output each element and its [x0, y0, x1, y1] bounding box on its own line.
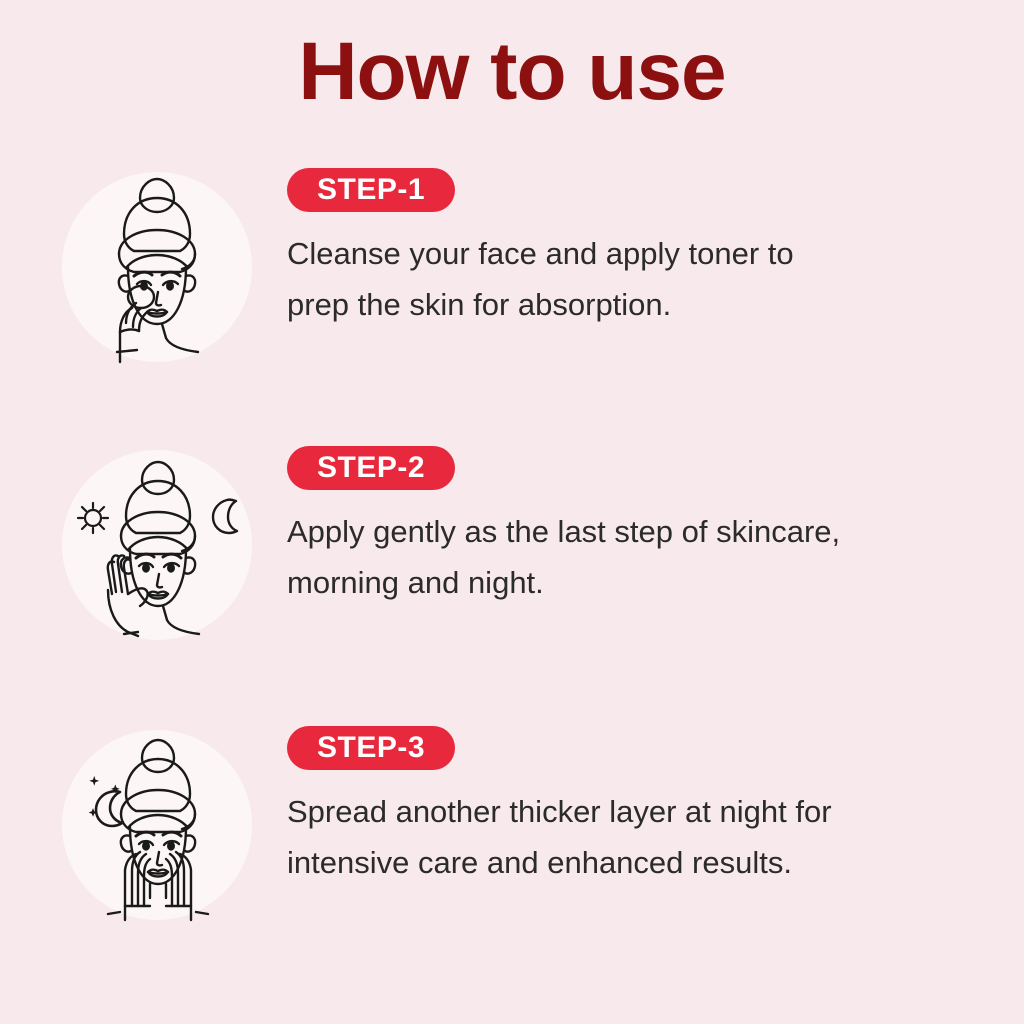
- step-3-illustration: [62, 730, 252, 920]
- step-3-line-1: Spread another thicker layer at night fo…: [287, 786, 967, 837]
- step-2-illustration: [62, 450, 252, 640]
- step-row: STEP-1 Cleanse your face and apply toner…: [0, 168, 1024, 368]
- step-1-description: Cleanse your face and apply toner to pre…: [287, 228, 967, 330]
- woman-cleansing-face-icon: [62, 172, 252, 362]
- page-title: How to use: [0, 24, 1024, 120]
- step-1-badge: STEP-1: [287, 168, 455, 212]
- step-1-illustration: [62, 172, 252, 362]
- step-3-line-2: intensive care and enhanced results.: [287, 837, 967, 888]
- step-3-badge: STEP-3: [287, 726, 455, 770]
- step-3-body: STEP-3 Spread another thicker layer at n…: [287, 726, 987, 888]
- step-1-body: STEP-1 Cleanse your face and apply toner…: [287, 168, 987, 330]
- step-2-line-2: morning and night.: [287, 557, 967, 608]
- step-2-badge: STEP-2: [287, 446, 455, 490]
- step-1-line-1: Cleanse your face and apply toner to: [287, 228, 967, 279]
- step-3-description: Spread another thicker layer at night fo…: [287, 786, 967, 888]
- step-1-line-2: prep the skin for absorption.: [287, 279, 967, 330]
- step-row: STEP-3 Spread another thicker layer at n…: [0, 726, 1024, 926]
- crescent-moon-icon: [62, 450, 252, 640]
- how-to-use-infographic: How to use: [0, 0, 1024, 1024]
- step-2-body: STEP-2 Apply gently as the last step of …: [287, 446, 987, 608]
- step-row: STEP-2 Apply gently as the last step of …: [0, 446, 1024, 646]
- crescent-moon-with-stars-icon: [62, 730, 252, 920]
- step-2-line-1: Apply gently as the last step of skincar…: [287, 506, 967, 557]
- step-2-description: Apply gently as the last step of skincar…: [287, 506, 967, 608]
